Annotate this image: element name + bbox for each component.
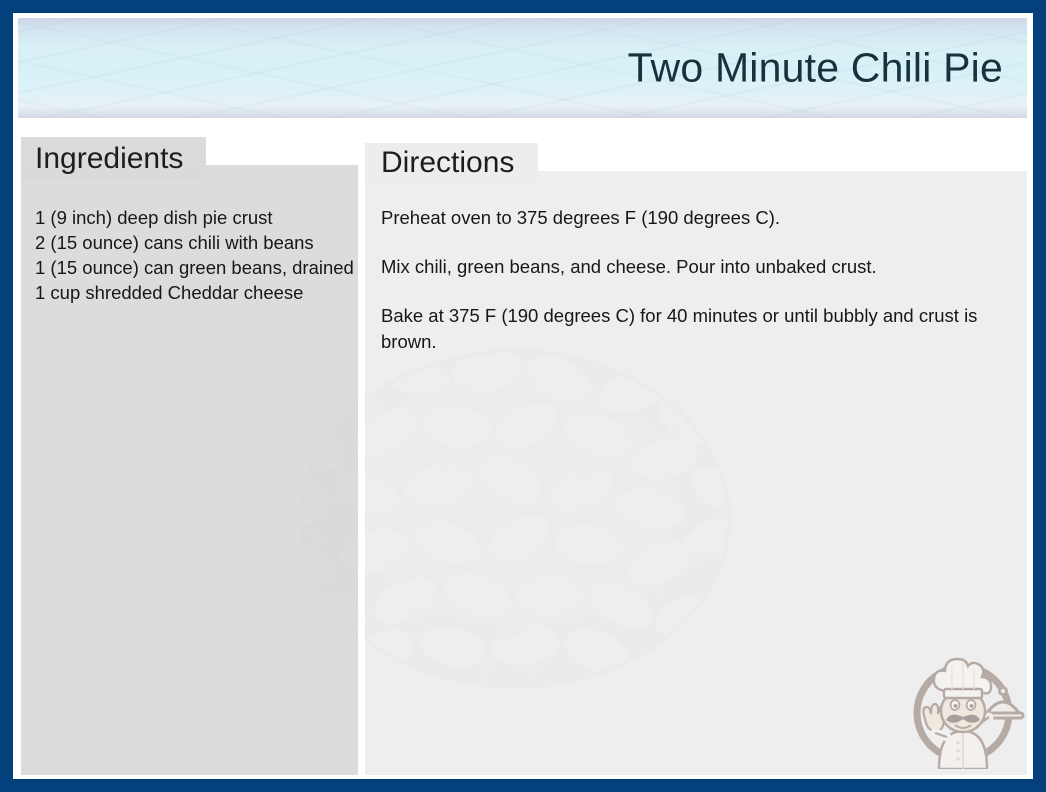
direction-step: Mix chili, green beans, and cheese. Pour…	[381, 254, 1006, 280]
list-item: 1 cup shredded Cheddar cheese	[35, 280, 360, 305]
directions-heading: Directions	[381, 145, 514, 181]
directions-steps: Preheat oven to 375 degrees F (190 degre…	[381, 205, 1006, 378]
panel-divider	[358, 171, 365, 775]
list-item: 1 (15 ounce) can green beans, drained	[35, 255, 360, 280]
header-banner: Two Minute Chili Pie	[18, 18, 1027, 118]
ingredients-list: 1 (9 inch) deep dish pie crust 2 (15 oun…	[35, 205, 360, 305]
recipe-card: Two Minute Chili Pie Ingredients 1 (9 in…	[0, 0, 1046, 792]
ingredients-heading: Ingredients	[35, 141, 183, 177]
card-inner-surface: Two Minute Chili Pie Ingredients 1 (9 in…	[13, 13, 1033, 779]
direction-step: Preheat oven to 375 degrees F (190 degre…	[381, 205, 1006, 231]
page-title: Two Minute Chili Pie	[628, 48, 1003, 89]
list-item: 2 (15 ounce) cans chili with beans	[35, 230, 360, 255]
direction-step: Bake at 375 F (190 degrees C) for 40 min…	[381, 303, 1006, 355]
list-item: 1 (9 inch) deep dish pie crust	[35, 205, 360, 230]
